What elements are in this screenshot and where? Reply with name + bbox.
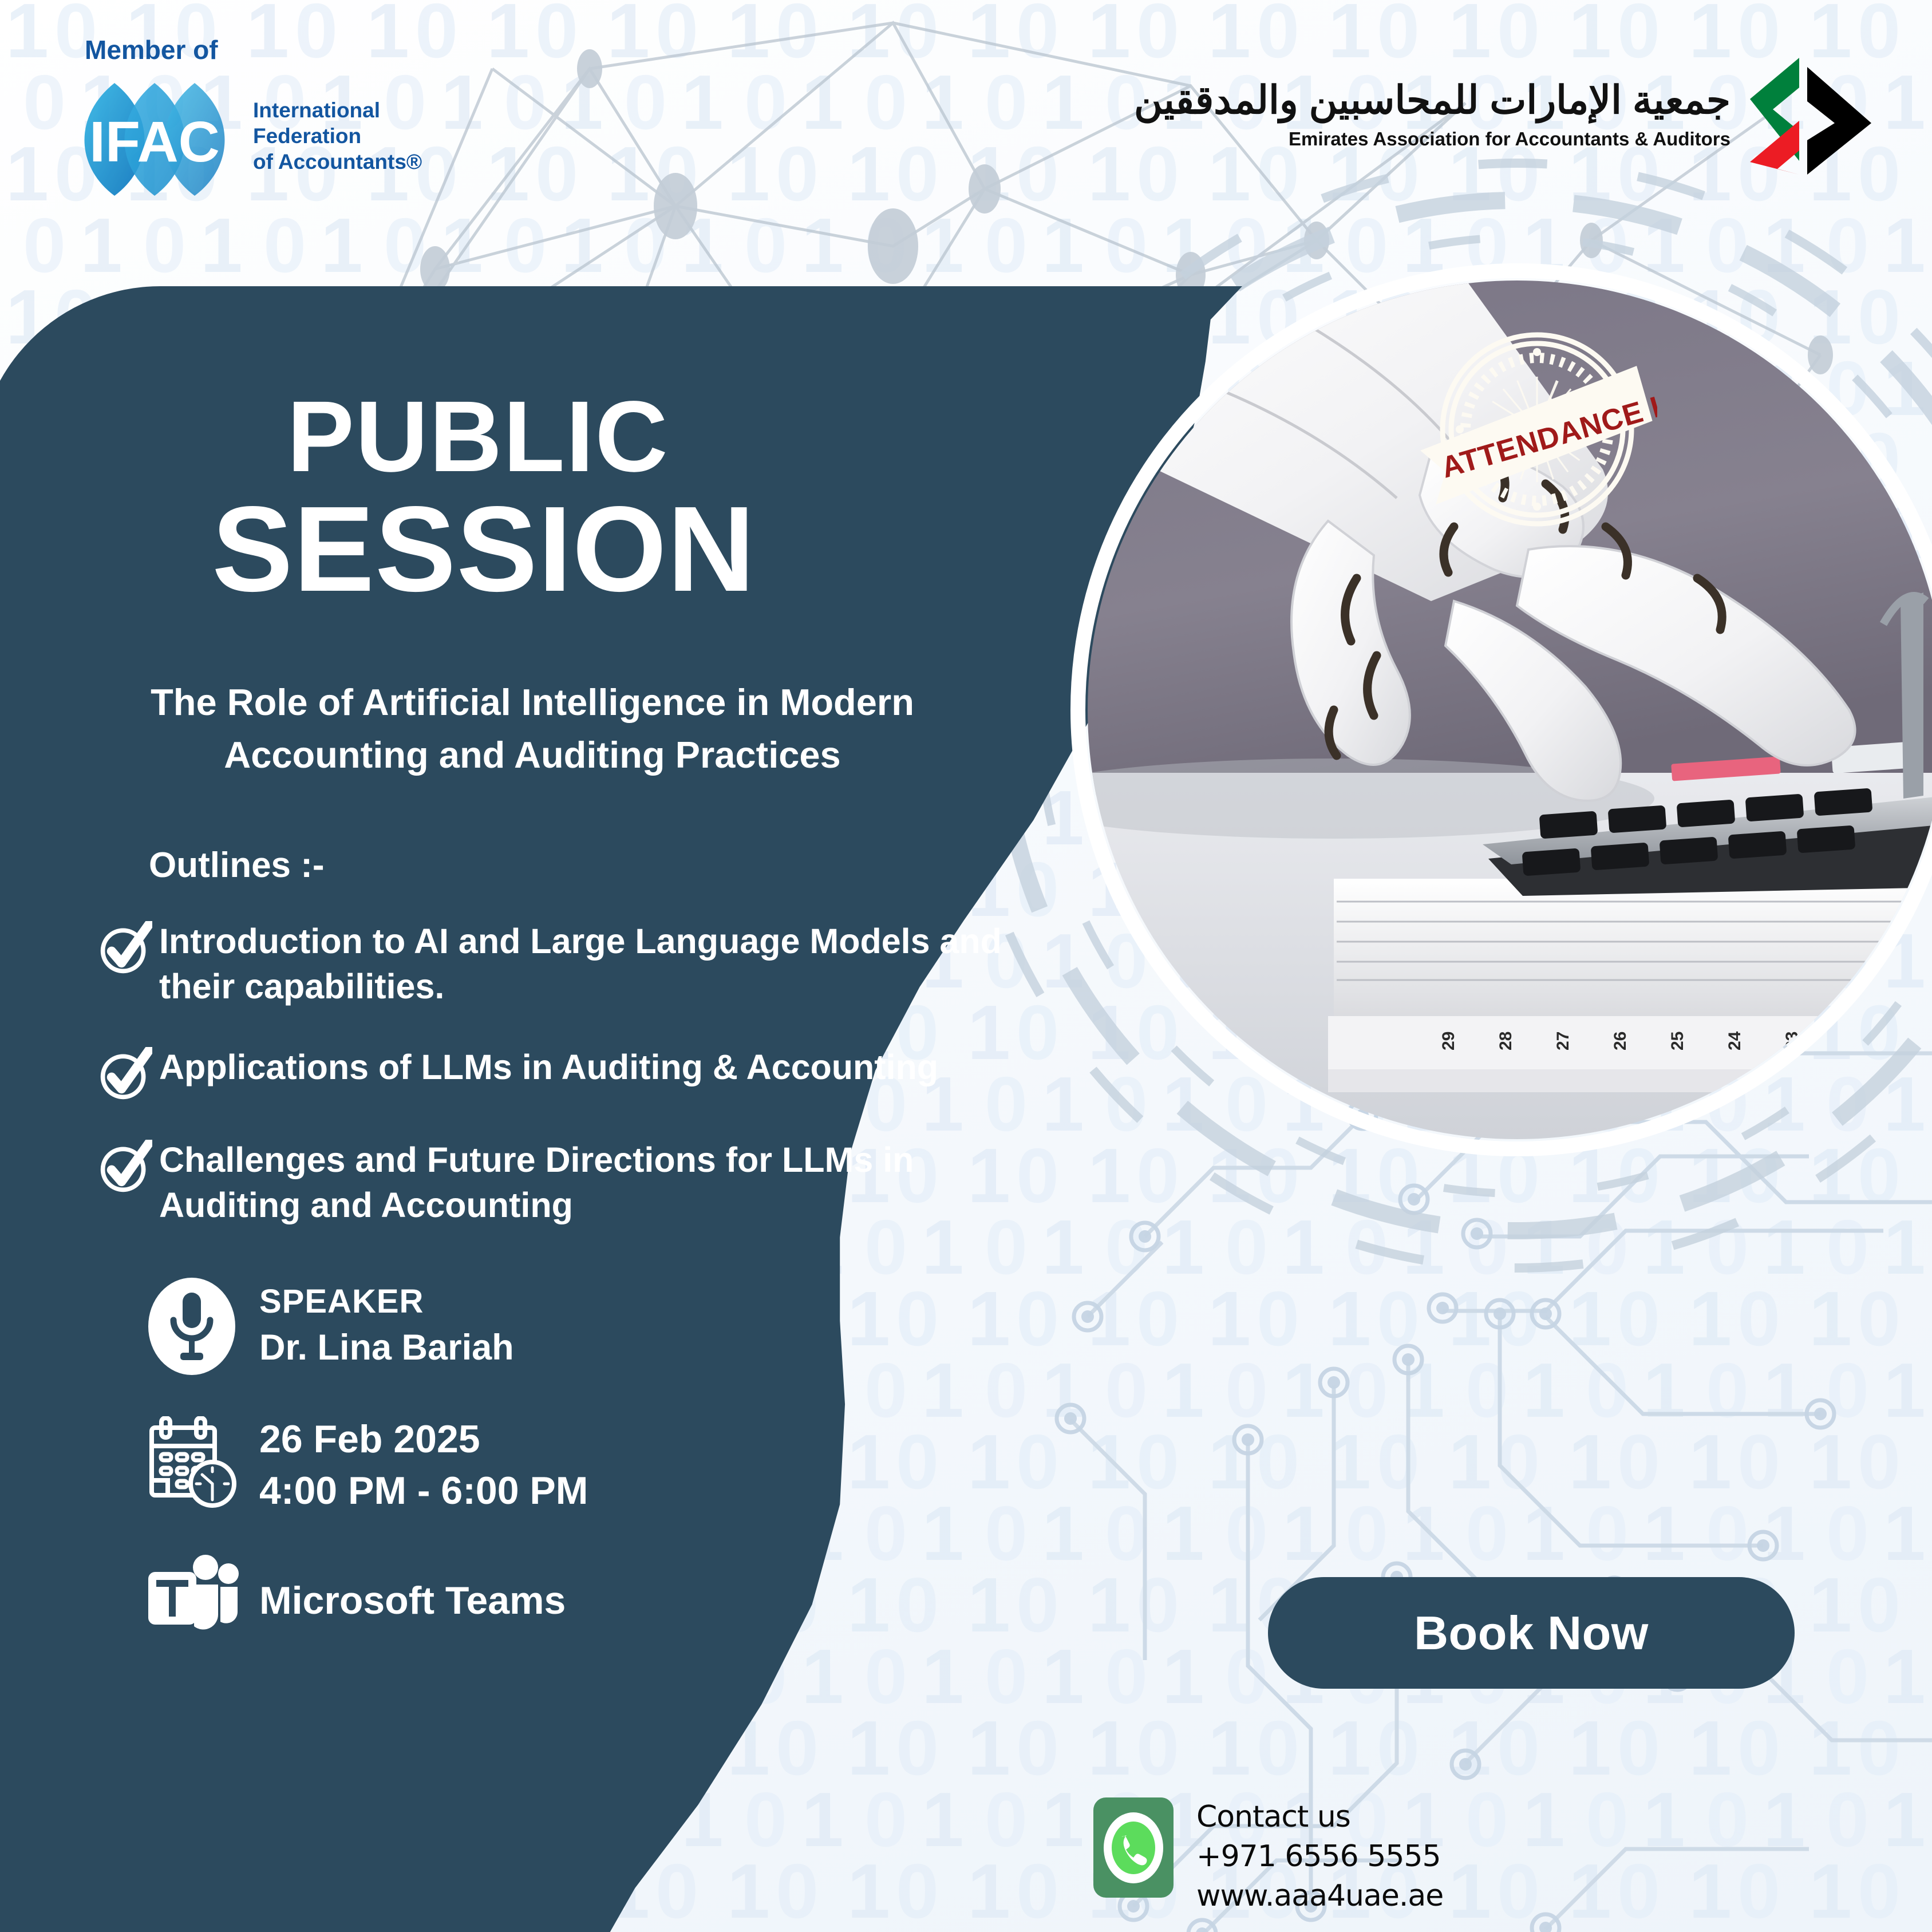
subtitle-line-1: The Role of Artificial Intelligence in M… (92, 676, 973, 729)
check-circle-icon (97, 1047, 152, 1102)
speaker-name: Dr. Lina Bariah (259, 1325, 514, 1371)
list-item: Introduction to AI and Large Language Mo… (97, 919, 1145, 1010)
svg-text:22: 22 (1840, 1032, 1859, 1050)
microsoft-teams-icon (144, 1555, 240, 1646)
contact-phone[interactable]: +971 6556 5555 (1196, 1837, 1443, 1876)
whatsapp-icon[interactable] (1093, 1797, 1174, 1898)
ifac-logo: Member of IFAC Inte (69, 34, 422, 197)
session-subtitle: The Role of Artificial Intelligence in M… (0, 676, 1145, 782)
contact-heading: Contact us (1196, 1797, 1443, 1837)
svg-text:28: 28 (1496, 1032, 1515, 1050)
outline-item-text: Applications of LLMs in Auditing & Accou… (159, 1045, 938, 1090)
datetime-row: 26 Feb 2025 4:00 PM - 6:00 PM (140, 1416, 1145, 1514)
svg-text:29: 29 (1439, 1032, 1458, 1050)
ifac-line-3: of Accountants® (253, 149, 422, 175)
contact-website[interactable]: www.aaa4uae.ae (1196, 1876, 1443, 1916)
list-item: Challenges and Future Directions for LLM… (97, 1137, 1145, 1228)
page-title-line-1: PUBLIC (0, 389, 1145, 485)
eaa-english-name: Emirates Association for Accountants & A… (1134, 128, 1730, 150)
svg-text:24: 24 (1725, 1031, 1744, 1050)
outline-item-text: Challenges and Future Directions for LLM… (159, 1137, 1052, 1228)
platform-row: Microsoft Teams (140, 1555, 1145, 1646)
book-now-button[interactable]: Book Now (1268, 1577, 1795, 1689)
book-now-label: Book Now (1414, 1606, 1649, 1661)
platform-name: Microsoft Teams (259, 1581, 566, 1620)
datetime-text: 26 Feb 2025 4:00 PM - 6:00 PM (259, 1420, 588, 1510)
eaa-arabic-name: جمعية الإمارات للمحاسبين والمدققين (1134, 79, 1730, 122)
speaker-label: SPEAKER (259, 1282, 514, 1322)
speaker-text: SPEAKER Dr. Lina Bariah (259, 1282, 514, 1371)
poster-canvas: 1 0 0 1 (0, 0, 1932, 1932)
event-date: 26 Feb 2025 (259, 1420, 588, 1459)
check-circle-icon (97, 1140, 152, 1195)
svg-text:26: 26 (1611, 1032, 1630, 1050)
ifac-mark-icon: IFAC (69, 74, 240, 197)
outline-list: Introduction to AI and Large Language Mo… (97, 919, 1145, 1228)
platform-text: Microsoft Teams (259, 1581, 566, 1620)
main-content: PUBLIC SESSION The Role of Artificial In… (0, 321, 1145, 1646)
outline-item-text: Introduction to AI and Large Language Mo… (159, 919, 1052, 1010)
microphone-icon-wrap (140, 1278, 243, 1375)
calendar-clock-icon (145, 1416, 239, 1514)
outlines-label: Outlines :- (149, 845, 1145, 886)
eaa-logo: جمعية الإمارات للمحاسبين والمدققين Emira… (1134, 54, 1875, 175)
list-item: Applications of LLMs in Auditing & Accou… (97, 1045, 1145, 1102)
svg-text:IFAC: IFAC (89, 110, 220, 174)
teams-icon-wrap (140, 1555, 243, 1646)
eaa-chevron-mark-icon (1743, 54, 1875, 175)
svg-text:23: 23 (1783, 1032, 1801, 1050)
ifac-member-of-label: Member of (85, 34, 422, 65)
svg-text:27: 27 (1554, 1032, 1573, 1050)
event-time: 4:00 PM - 6:00 PM (259, 1471, 588, 1510)
page-title-line-2: SESSION (0, 489, 1145, 609)
contact-block: Contact us +971 6556 5555 www.aaa4uae.ae (1093, 1797, 1443, 1916)
calendar-clock-icon-wrap (140, 1416, 243, 1514)
subtitle-line-2: Accounting and Auditing Practices (92, 729, 973, 781)
check-circle-icon (97, 921, 152, 976)
contact-text: Contact us +971 6556 5555 www.aaa4uae.ae (1196, 1797, 1443, 1916)
ifac-line-1: International (253, 97, 422, 123)
svg-text:21: 21 (1897, 1032, 1916, 1050)
microphone-icon (148, 1278, 235, 1375)
speaker-row: SPEAKER Dr. Lina Bariah (140, 1278, 1145, 1375)
svg-text:25: 25 (1668, 1032, 1687, 1050)
ifac-line-2: Federation (253, 123, 422, 149)
attendance-is-free-stamp: ATTENDANCE IS FREE (1417, 326, 1657, 555)
